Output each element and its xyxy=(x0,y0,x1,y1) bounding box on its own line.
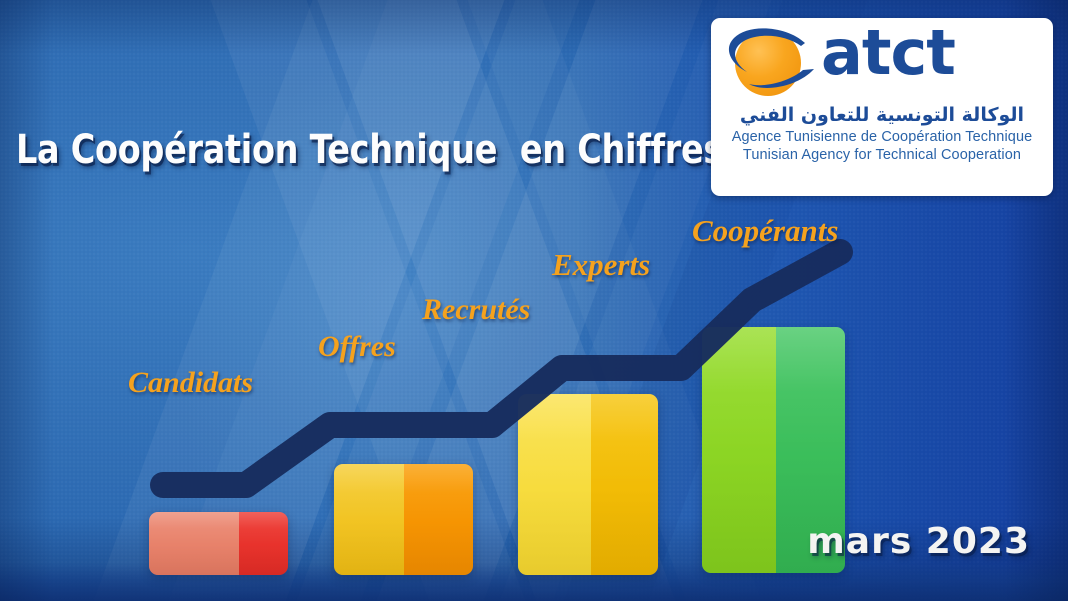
chart-label-experts: Experts xyxy=(552,247,650,283)
date-badge: mars 2023 xyxy=(807,521,1030,562)
chart-label-cooperants: Coopérants xyxy=(692,213,838,249)
bar-chart: Candidats Offres Recrutés Experts Coopér… xyxy=(0,0,1068,601)
chart-label-recrutes: Recrutés xyxy=(422,293,530,327)
chart-label-candidats: Candidats xyxy=(128,366,253,400)
chart-label-offres: Offres xyxy=(318,330,396,364)
trend-line xyxy=(0,0,1068,601)
infographic-poster: La Coopération Technique en Chiffres atc… xyxy=(0,0,1068,601)
